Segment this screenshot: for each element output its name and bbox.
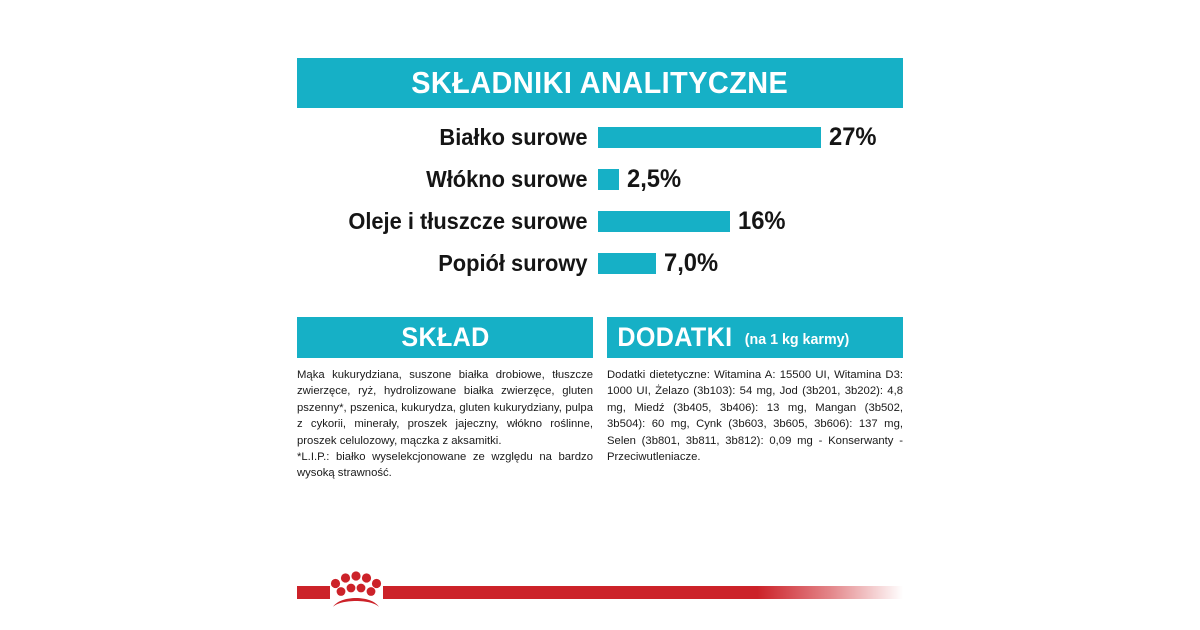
- additives-header-title: DODATKI: [617, 324, 732, 351]
- chart-bar-wrapper: 16%: [598, 209, 903, 234]
- chart-bar-wrapper: 2,5%: [598, 167, 903, 192]
- composition-header-title: SKŁAD: [401, 324, 489, 351]
- main-header-banner: SKŁADNIKI ANALITYCZNE: [297, 58, 903, 108]
- chart-bar: [598, 253, 656, 274]
- royal-canin-crown-icon: [330, 566, 382, 614]
- chart-row: Popiół surowy 7,0%: [297, 242, 903, 284]
- chart-value-label: 2,5%: [627, 167, 681, 192]
- additives-body-text: Dodatki dietetyczne: Witamina A: 15500 U…: [607, 367, 903, 465]
- analytical-composition-infographic: SKŁADNIKI ANALITYCZNE Białko surowe 27% …: [0, 0, 1200, 630]
- composition-body-text: Mąka kukurydziana, suszone białka drobio…: [297, 367, 593, 482]
- chart-bar-wrapper: 27%: [598, 125, 903, 150]
- chart-row: Włókno surowe 2,5%: [297, 158, 903, 200]
- footer-logo-band: [0, 586, 1200, 602]
- red-band-right-segment: [383, 586, 903, 599]
- chart-value-label: 7,0%: [664, 251, 718, 276]
- chart-bar: [598, 127, 821, 148]
- chart-row: Oleje i tłuszcze surowe 16%: [297, 200, 903, 242]
- details-columns: SKŁAD Mąka kukurydziana, suszone białka …: [297, 317, 903, 482]
- composition-header-banner: SKŁAD: [297, 317, 593, 358]
- chart-category-label: Oleje i tłuszcze surowe: [312, 210, 598, 233]
- red-band-left-segment: [297, 586, 330, 599]
- chart-value-label: 16%: [738, 209, 786, 234]
- chart-row: Białko surowe 27%: [297, 116, 903, 158]
- chart-value-label: 27%: [829, 125, 877, 150]
- chart-category-label: Włókno surowe: [312, 168, 598, 191]
- chart-bar-wrapper: 7,0%: [598, 251, 903, 276]
- additives-column: DODATKI (na 1 kg karmy) Dodatki dietetyc…: [607, 317, 903, 482]
- analytical-constituents-chart: Białko surowe 27% Włókno surowe 2,5% Ole…: [297, 116, 903, 284]
- additives-header-subtitle: (na 1 kg karmy): [745, 332, 850, 347]
- chart-bar: [598, 169, 619, 190]
- chart-bar: [598, 211, 730, 232]
- chart-category-label: Popiół surowy: [312, 252, 598, 275]
- chart-category-label: Białko surowe: [312, 126, 598, 149]
- composition-column: SKŁAD Mąka kukurydziana, suszone białka …: [297, 317, 593, 482]
- additives-header-banner: DODATKI (na 1 kg karmy): [607, 317, 903, 358]
- page-title: SKŁADNIKI ANALITYCZNE: [411, 65, 788, 101]
